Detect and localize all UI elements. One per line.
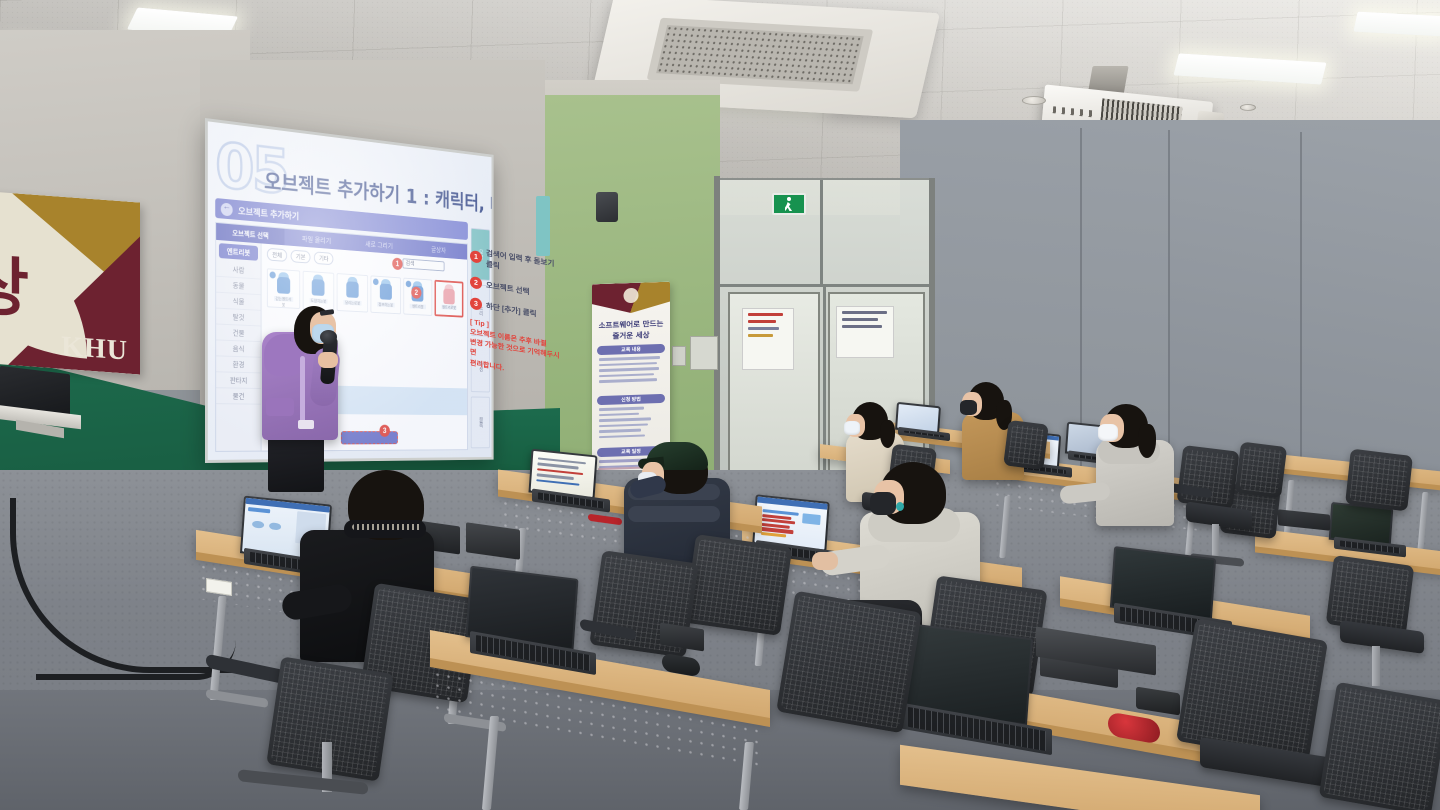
sprite-tile: 달리는로봇 xyxy=(337,273,368,313)
step-marker-2: 2 xyxy=(411,286,421,299)
slide-instructions: 1검색어 입력 후 돋보기 클릭 2오브젝트 선택 3하단 [추가] 클릭 [ … xyxy=(470,245,560,383)
sprite-tile-selected: 엔트리로봇 xyxy=(435,280,464,318)
breadcrumb-label: 오브젝트 추가하기 xyxy=(238,204,299,222)
wall-accent-strip xyxy=(536,196,550,256)
jacket-pocket xyxy=(266,398,294,416)
step-num: 1 xyxy=(470,250,482,264)
banner-title: 소프트웨어로 만드는 즐거운 세상 xyxy=(596,318,666,343)
necklace xyxy=(352,524,422,530)
wall-control-box xyxy=(690,336,718,370)
chair-back xyxy=(776,591,922,734)
sprite-tile: 점프하는봇 xyxy=(371,275,401,314)
puffer-seam xyxy=(628,506,720,522)
slide-sidebar: 엔트리봇 사람 동물 식물 탈것 건물 음식 환경 판타지 물건 xyxy=(216,240,261,451)
sprite-caption: 걷는엔트리봇 xyxy=(274,296,293,302)
projected-slide: 05 오브젝트 추가하기 1 : 캐릭터, 배경 오브젝트 추가하기 오브젝트 … xyxy=(208,121,492,460)
search-input: 검색 xyxy=(403,258,445,271)
chair-back xyxy=(1326,555,1415,635)
sprite-body xyxy=(443,289,454,305)
student-hand xyxy=(812,552,838,570)
sprite-tile: 도망치는봇 xyxy=(302,271,334,311)
chair-back xyxy=(1003,420,1049,470)
sprite-body xyxy=(312,279,325,296)
face-mask-black xyxy=(870,492,896,515)
sprite-body xyxy=(277,277,290,294)
sprite-badge xyxy=(373,278,379,285)
khu-wall-poster: 상 KHU xyxy=(0,189,140,374)
ponytail xyxy=(1138,424,1156,458)
filter-chip: 기타 xyxy=(314,251,334,265)
door-poster xyxy=(742,308,794,370)
chair-back xyxy=(1319,682,1440,810)
sprite-caption: 점프하는봇 xyxy=(377,302,394,308)
sprite-caption: 도망치는봇 xyxy=(309,298,327,304)
jacket-label xyxy=(298,420,314,429)
running-person-exit-icon xyxy=(784,197,795,211)
right-tab: 블록 xyxy=(471,397,490,449)
mask-strap-clip xyxy=(896,502,904,511)
sprite-body xyxy=(380,283,392,300)
chair-post xyxy=(1372,646,1380,686)
chair-back xyxy=(1176,618,1328,764)
chair-post xyxy=(1212,524,1219,558)
banner-section-title: 교육 내용 xyxy=(597,344,665,355)
face-mask xyxy=(1098,424,1118,441)
wall-speaker xyxy=(596,192,618,222)
sprite-caption: 달리는로봇 xyxy=(344,300,362,306)
sidebar-item: 탈것 xyxy=(216,309,261,327)
sidebar-item: 환경 xyxy=(216,356,261,373)
projection-screen: 05 오브젝트 추가하기 1 : 캐릭터, 배경 오브젝트 추가하기 오브젝트 … xyxy=(205,118,494,463)
banner-top-shape xyxy=(592,282,670,315)
sprite-badge xyxy=(270,271,276,278)
chair-back xyxy=(1235,442,1287,499)
banner-emblem xyxy=(624,288,639,304)
emergency-exit-sign xyxy=(772,193,806,215)
sidebar-item: 물건 xyxy=(216,388,261,404)
sprite-tile: 걷는엔트리봇 xyxy=(267,268,300,309)
step-marker-1: 1 xyxy=(392,257,402,270)
wall-seam xyxy=(1300,132,1302,492)
khu-logo: KHU xyxy=(61,331,128,368)
microphone-head xyxy=(320,330,337,344)
step-text: 오브젝트 선택 xyxy=(486,279,529,297)
sprite-caption: 엔트리로봇 xyxy=(442,305,457,310)
sidebar-item: 건물 xyxy=(216,324,261,342)
door-poster xyxy=(836,306,894,358)
back-arrow-icon xyxy=(221,202,233,216)
ponytail xyxy=(880,420,895,448)
slide-app-mockup: 오브젝트 선택 파일 올리기 새로 그리기 글상자 엔트리봇 사람 동물 식물 … xyxy=(215,222,468,452)
poster-korean-char: 상 xyxy=(0,234,29,330)
ceiling-speaker xyxy=(1022,96,1046,105)
step-num: 2 xyxy=(470,276,482,290)
sidebar-item: 판타지 xyxy=(216,372,261,389)
step-marker-3: 3 xyxy=(379,425,389,437)
sprite-badge xyxy=(405,281,411,288)
step-text: 하단 [추가] 클릭 xyxy=(486,300,537,319)
sidebar-item: 음식 xyxy=(216,340,261,357)
sprite-body xyxy=(346,281,358,298)
sprinkler-head xyxy=(1240,104,1256,111)
classroom-photo-scene: 상 KHU 05 오브젝트 추가하기 1 : 캐릭터, 배경 오브젝트 추가하기… xyxy=(0,0,1440,810)
instructor-hand xyxy=(318,352,338,368)
sprite-caption: 엔트리봇 xyxy=(409,304,426,310)
sidebar-header: 엔트리봇 xyxy=(219,243,258,261)
jacket-zipper xyxy=(300,356,305,426)
face-mask xyxy=(844,421,860,435)
filter-chip: 전체 xyxy=(267,248,287,262)
chair-back xyxy=(1345,449,1413,512)
step-num: 3 xyxy=(470,297,482,311)
chair-back xyxy=(684,534,793,636)
wall-switch xyxy=(672,346,686,366)
chair-back xyxy=(1176,445,1239,509)
face-mask-black xyxy=(960,400,977,415)
glass-door-left[interactable] xyxy=(728,292,820,488)
filter-chip: 기본 xyxy=(291,250,311,264)
banner-section-title: 신청 방법 xyxy=(597,394,665,405)
